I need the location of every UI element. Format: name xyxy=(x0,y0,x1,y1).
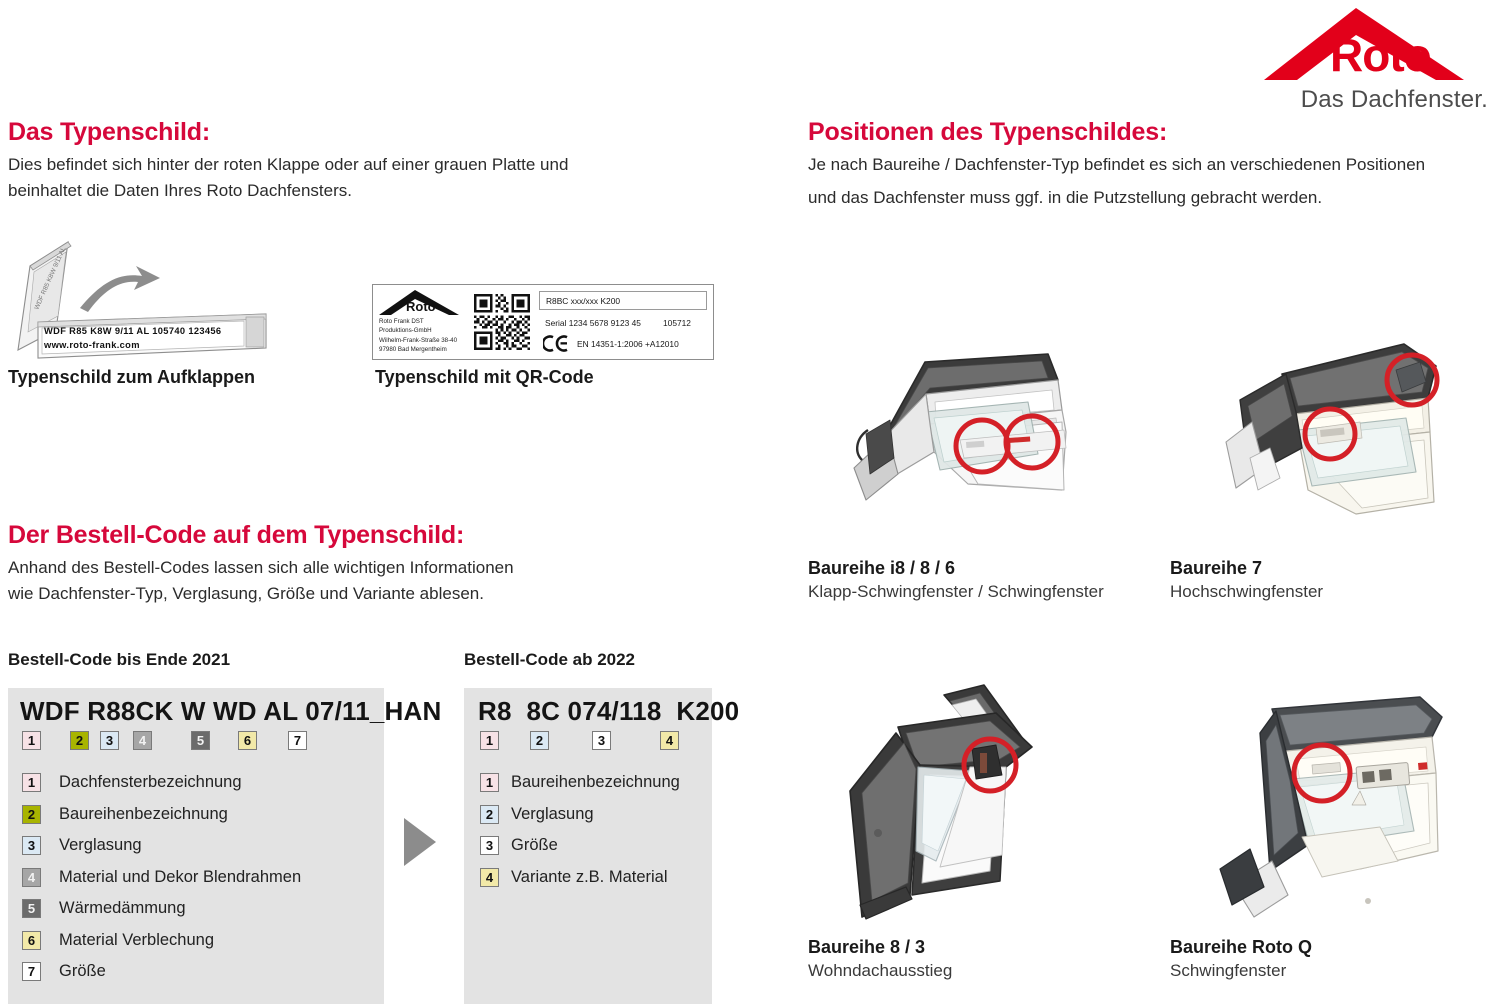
flap-label-line2: www.roto-frank.com xyxy=(44,338,221,352)
legend-old-row: 6Material Verblechung xyxy=(8,925,384,957)
bestell-code-new-markers: 1234 xyxy=(464,731,712,757)
legend-old-badge-2: 2 xyxy=(22,805,41,824)
qr-label-norm-row: EN 14351-1:2006 +A12010 xyxy=(539,335,707,352)
label-bestell-code-new: Bestell-Code ab 2022 xyxy=(464,650,635,670)
window-photo-roto-q xyxy=(1170,655,1450,935)
code-marker-old-1: 1 xyxy=(22,731,41,750)
bestell-code-new-value: R8 8C 074/118 K200 xyxy=(464,688,712,727)
code-marker-old-5: 5 xyxy=(191,731,210,750)
bestell-code-panel-old: WDF R88CK W WD AL 07/11_HAN 1234567 1Dac… xyxy=(8,688,384,1004)
legend-old-label-6: Material Verblechung xyxy=(59,931,214,950)
window-title-7: Baureihe 7 xyxy=(1170,558,1262,579)
code-marker-new-1: 1 xyxy=(480,731,499,750)
legend-new-badge-1: 1 xyxy=(480,773,499,792)
legend-new-row: 4Variante z.B. Material xyxy=(464,862,712,894)
positionen-body-line1: Je nach Baureihe / Dachfenster-Typ befin… xyxy=(808,152,1488,178)
legend-old-badge-1: 1 xyxy=(22,773,41,792)
legend-new-label-3: Größe xyxy=(511,836,558,855)
window-photo-i8-8-6 xyxy=(830,262,1080,527)
legend-old-label-2: Baureihenbezeichnung xyxy=(59,805,228,824)
code-marker-old-3: 3 xyxy=(100,731,119,750)
qr-label-address: Roto Frank DST Produktions-GmbH Wilhelm-… xyxy=(379,317,465,354)
code-marker-new-4: 4 xyxy=(660,731,679,750)
legend-old-row: 1Dachfensterbezeichnung xyxy=(8,767,384,799)
legend-old-label-3: Verglasung xyxy=(59,836,142,855)
qr-label-code-field: R8BC xxx/xxx K200 xyxy=(539,291,707,310)
bestellcode-body-line2: wie Dachfenster-Typ, Verglasung, Größe u… xyxy=(8,581,608,607)
legend-old-label-1: Dachfensterbezeichnung xyxy=(59,773,242,792)
qr-address-line-3: Wilhelm-Frank-Straße 38-40 xyxy=(379,336,465,345)
qr-address-line-2: Produktions-GmbH xyxy=(379,326,465,335)
window-subtitle-7: Hochschwingfenster xyxy=(1170,582,1323,602)
roto-logo-mark: Roto xyxy=(1252,4,1492,82)
legend-new-badge-4: 4 xyxy=(480,868,499,887)
legend-new-label-2: Verglasung xyxy=(511,805,594,824)
typenschild-body-line2: beinhaltet die Daten Ihres Roto Dachfens… xyxy=(8,178,608,204)
heading-positionen: Positionen des Typenschildes: xyxy=(808,118,1167,147)
roto-logo: Roto Das Dachfenster. xyxy=(1252,4,1492,114)
legend-old-label-7: Größe xyxy=(59,962,106,981)
typenschild-flap-illustration: WDF R85 K8W 9/11 AL WDF R85 K8W 9/11 AL … xyxy=(8,232,288,362)
legend-old-badge-3: 3 xyxy=(22,836,41,855)
qr-label-data-block: R8BC xxx/xxx K200 Serial 1234 5678 9123 … xyxy=(535,285,713,359)
page-root: Roto Das Dachfenster. Das Typenschild: D… xyxy=(0,0,1500,1004)
legend-old-row: 4Material und Dekor Blendrahmen xyxy=(8,862,384,894)
qr-label-norm: EN 14351-1:2006 +A12010 xyxy=(577,339,679,349)
legend-new-badge-3: 3 xyxy=(480,836,499,855)
window-subtitle-roto-q: Schwingfenster xyxy=(1170,961,1286,981)
bestell-code-old-value: WDF R88CK W WD AL 07/11_HAN xyxy=(8,688,384,727)
transition-arrow-icon xyxy=(404,818,436,866)
typenschild-body-line1: Dies befindet sich hinter der roten Klap… xyxy=(8,152,608,178)
legend-old-badge-7: 7 xyxy=(22,962,41,981)
qr-label-serial: Serial 1234 5678 9123 45 xyxy=(545,318,663,328)
bestell-code-panel-new: R8 8C 074/118 K200 1234 1Baureihenbezeic… xyxy=(464,688,712,1004)
legend-old-badge-5: 5 xyxy=(22,899,41,918)
typenschild-qr-label: Roto Roto Frank DST Produktions-GmbH Wil… xyxy=(372,284,714,360)
qr-label-logo: Roto xyxy=(379,290,459,315)
legend-old-row: 3Verglasung xyxy=(8,830,384,862)
window-subtitle-8-3: Wohndachausstieg xyxy=(808,961,952,981)
legend-new-label-1: Baureihenbezeichnung xyxy=(511,773,680,792)
ce-mark-icon xyxy=(543,335,569,352)
code-marker-old-6: 6 xyxy=(238,731,257,750)
qr-address-line-1: Roto Frank DST xyxy=(379,317,465,326)
qr-label-serial-number: 105712 xyxy=(663,318,691,328)
code-marker-old-2: 2 xyxy=(70,731,89,750)
legend-new-label-4: Variante z.B. Material xyxy=(511,868,668,887)
qr-address-line-4: 97980 Bad Mergentheim xyxy=(379,345,465,354)
window-title-i8-8-6: Baureihe i8 / 8 / 6 xyxy=(808,558,955,579)
positionen-body-line2: und das Dachfenster muss ggf. in die Put… xyxy=(808,185,1488,211)
window-title-roto-q: Baureihe Roto Q xyxy=(1170,937,1312,958)
legend-old-label-5: Wärmedämmung xyxy=(59,899,186,918)
bestellcode-body-line1: Anhand des Bestell-Codes lassen sich all… xyxy=(8,555,608,581)
bestell-code-old-markers: 1234567 xyxy=(8,731,384,757)
legend-new-badge-2: 2 xyxy=(480,805,499,824)
code-marker-new-3: 3 xyxy=(592,731,611,750)
legend-old-row: 5Wärmedämmung xyxy=(8,893,384,925)
roto-logo-wordmark: Roto xyxy=(1330,32,1431,78)
legend-old-row: 7Größe xyxy=(8,956,384,988)
code-marker-new-2: 2 xyxy=(530,731,549,750)
window-photo-7 xyxy=(1190,262,1440,527)
heading-das-typenschild: Das Typenschild: xyxy=(8,118,210,147)
flap-open-arrow xyxy=(80,266,160,312)
caption-typenschild-flap: Typenschild zum Aufklappen xyxy=(8,367,255,388)
legend-old-label-4: Material und Dekor Blendrahmen xyxy=(59,868,301,887)
legend-new-row: 3Größe xyxy=(464,830,712,862)
window-photo-8-3 xyxy=(800,655,1050,935)
flap-label-line1: WDF R85 K8W 9/11 AL 105740 123456 xyxy=(44,324,221,338)
window-title-8-3: Baureihe 8 / 3 xyxy=(808,937,925,958)
qr-label-brand-word: Roto xyxy=(406,300,436,313)
bestell-code-new-legend: 1Baureihenbezeichnung2Verglasung3Größe4V… xyxy=(464,767,712,893)
legend-old-badge-6: 6 xyxy=(22,931,41,950)
qr-code-icon xyxy=(469,285,535,359)
bestell-code-old-legend: 1Dachfensterbezeichnung2Baureihenbezeich… xyxy=(8,767,384,988)
code-marker-old-7: 7 xyxy=(288,731,307,750)
roto-logo-tagline: Das Dachfenster. xyxy=(1301,86,1488,114)
flap-label-text: WDF R85 K8W 9/11 AL 105740 123456 www.ro… xyxy=(44,324,221,353)
legend-new-row: 2Verglasung xyxy=(464,799,712,831)
qr-label-serial-row: Serial 1234 5678 9123 45 105712 xyxy=(539,318,707,328)
heading-bestell-code: Der Bestell-Code auf dem Typenschild: xyxy=(8,521,464,550)
label-bestell-code-old: Bestell-Code bis Ende 2021 xyxy=(8,650,230,670)
legend-new-row: 1Baureihenbezeichnung xyxy=(464,767,712,799)
window-subtitle-i8-8-6: Klapp-Schwingfenster / Schwingfenster xyxy=(808,582,1104,602)
qr-label-brand-block: Roto Roto Frank DST Produktions-GmbH Wil… xyxy=(373,285,469,359)
legend-old-row: 2Baureihenbezeichnung xyxy=(8,799,384,831)
code-marker-old-4: 4 xyxy=(133,731,152,750)
caption-typenschild-qr: Typenschild mit QR-Code xyxy=(375,367,594,388)
legend-old-badge-4: 4 xyxy=(22,868,41,887)
